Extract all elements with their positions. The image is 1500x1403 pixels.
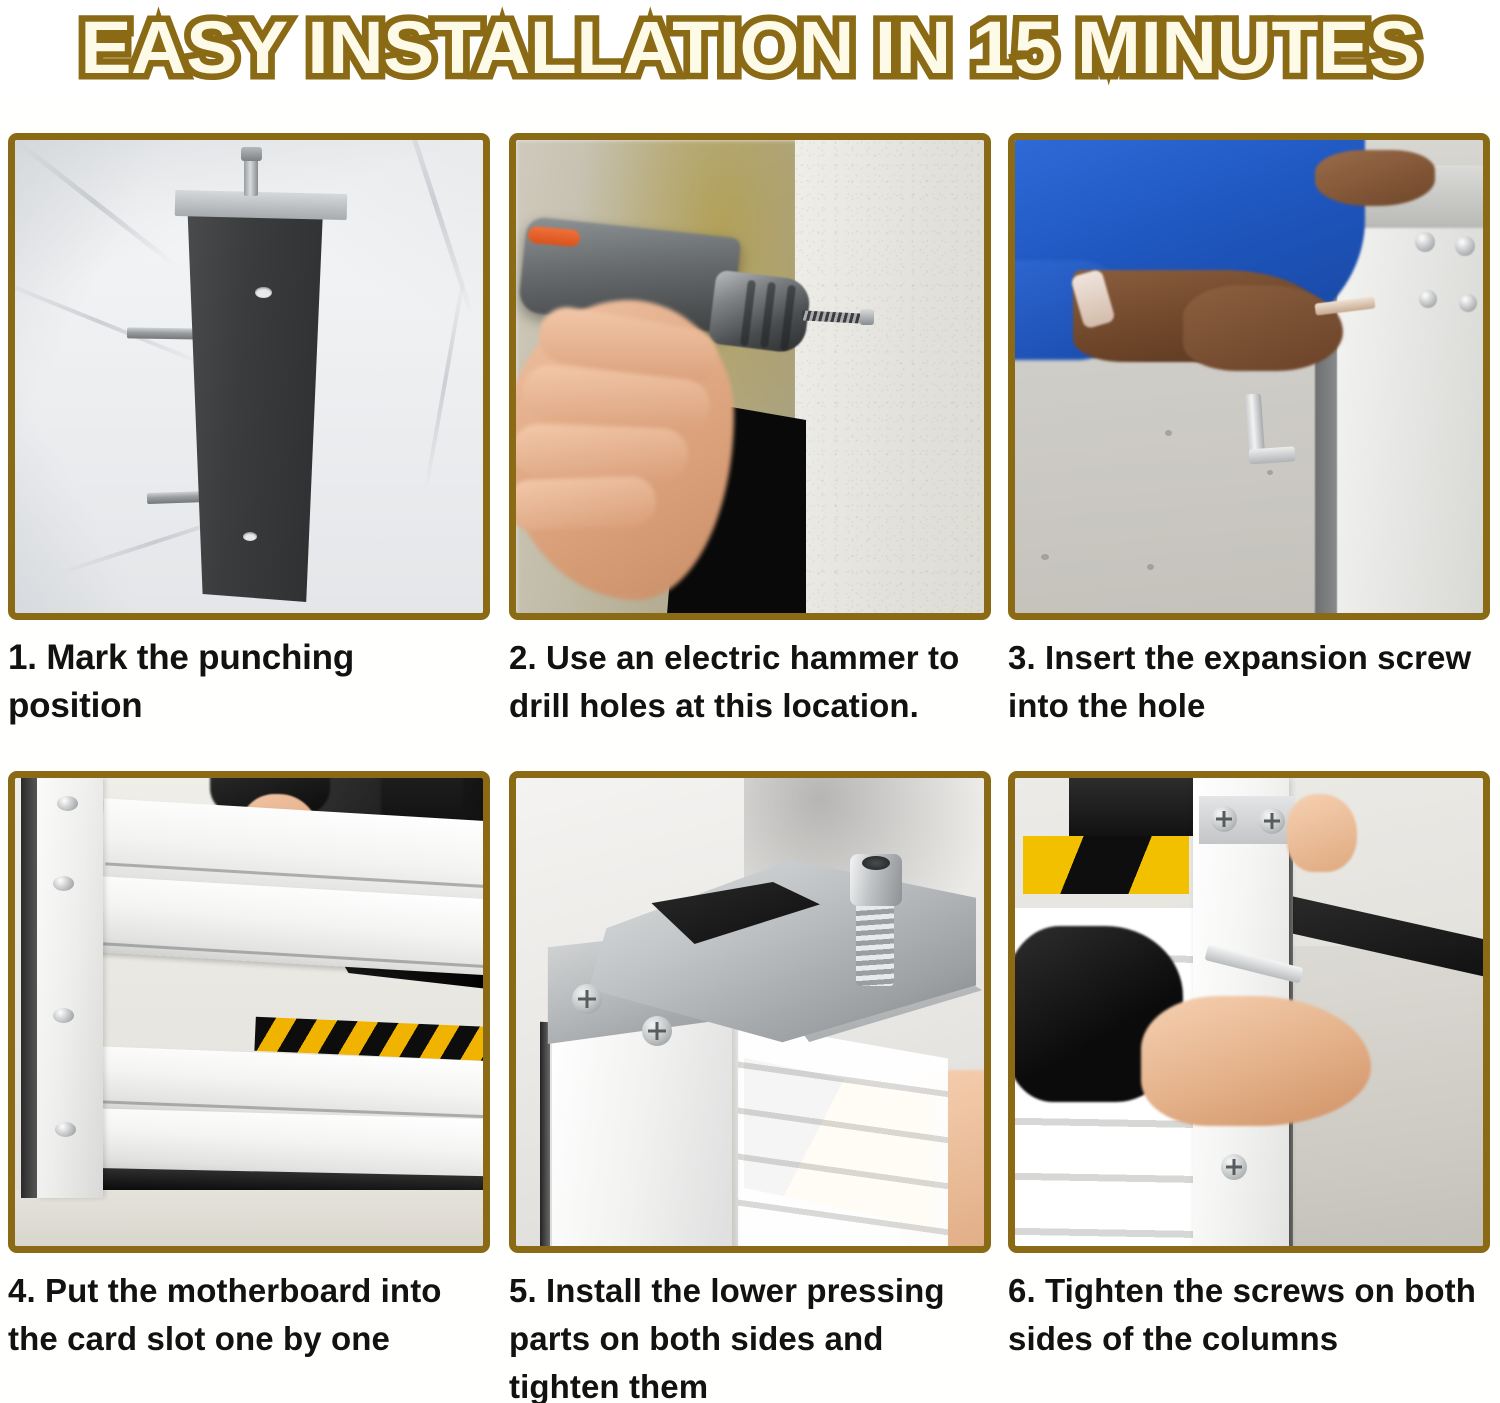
finger	[516, 423, 689, 481]
barrier-boards-stack	[738, 1021, 948, 1246]
white-column	[552, 1009, 732, 1246]
floor-surface	[15, 1190, 483, 1246]
installation-guide-page: EASY INSTALLATION IN 15 MINUTES	[0, 0, 1500, 1403]
step-card-2: 2. Use an electric hammer to drill holes…	[509, 133, 991, 730]
phillips-screw	[642, 1016, 672, 1046]
step-6-caption: 6. Tighten the screws on both sides of t…	[1008, 1267, 1490, 1363]
lower-pressing-parts-photo	[516, 778, 984, 1246]
step-card-6: 6. Tighten the screws on both sides of t…	[1008, 771, 1490, 1363]
column-bolt	[1455, 236, 1475, 256]
drill-bit-tip	[860, 309, 874, 325]
post-screw	[57, 796, 78, 811]
step-4-photo-frame	[8, 771, 490, 1253]
hazard-stripe	[1023, 836, 1189, 894]
electric-hammer-drilling-photo	[516, 140, 984, 613]
floor-speck	[1165, 430, 1172, 436]
column-post	[183, 202, 323, 602]
top-bolt-head	[241, 147, 262, 161]
floor-speck	[1147, 564, 1154, 570]
step-card-3: 3. Insert the expansion screw into the h…	[1008, 133, 1490, 730]
step-3-photo-frame	[1008, 133, 1490, 620]
column-bolt	[1419, 290, 1437, 308]
phillips-screw	[572, 984, 602, 1014]
finger	[516, 475, 657, 530]
punch-mark-hole-upper	[255, 287, 272, 298]
column-bolt	[1415, 232, 1435, 252]
column-screw-bottom	[1221, 1154, 1247, 1180]
steps-row-top: 1. Mark the punching position	[8, 133, 1492, 753]
steps-grid: 1. Mark the punching position	[8, 133, 1492, 1398]
step-4-caption: 4. Put the motherboard into the card slo…	[8, 1267, 490, 1363]
post-top-plate	[175, 190, 348, 220]
column-post-marking-photo	[15, 140, 483, 613]
punch-mark-hole-lower	[243, 532, 257, 541]
worker-hand	[1183, 285, 1343, 371]
motherboard-card-slot-photo	[15, 778, 483, 1246]
floor-speck	[1267, 470, 1273, 475]
step-3-caption: 3. Insert the expansion screw into the h…	[1008, 634, 1490, 730]
expansion-screw-insert-photo	[1015, 140, 1483, 613]
dark-background-region	[1069, 778, 1199, 836]
step-card-4: 4. Put the motherboard into the card slo…	[8, 771, 490, 1363]
step-5-caption: 5. Install the lower pressing parts on b…	[509, 1267, 991, 1403]
white-wall-surface	[795, 140, 984, 613]
column-screw-top-left	[1211, 806, 1237, 832]
thumbscrew-thread	[856, 896, 894, 986]
page-title: EASY INSTALLATION IN 15 MINUTES	[80, 11, 1419, 85]
post-screw	[53, 1008, 74, 1023]
header-banner: EASY INSTALLATION IN 15 MINUTES	[0, 0, 1500, 96]
steps-row-bottom: 4. Put the motherboard into the card slo…	[8, 771, 1492, 1398]
column-screw-top-right	[1259, 808, 1285, 834]
worker-hand-upper	[1287, 794, 1357, 872]
step-2-photo-frame	[509, 133, 991, 620]
step-card-5: 5. Install the lower pressing parts on b…	[509, 771, 991, 1403]
post-shadow-edge	[21, 778, 38, 1198]
tighten-column-screws-photo	[1015, 778, 1483, 1246]
column-shadow-edge	[540, 1022, 550, 1246]
step-1-caption: 1. Mark the punching position	[8, 634, 490, 730]
post-screw	[53, 876, 74, 891]
step-5-photo-frame	[509, 771, 991, 1253]
thumbscrew-socket	[862, 856, 890, 870]
floor-speck	[1041, 554, 1049, 560]
post-screw	[55, 1122, 76, 1137]
step-1-photo-frame	[8, 133, 490, 620]
step-2-caption: 2. Use an electric hammer to drill holes…	[509, 634, 991, 730]
worker-hand-upper	[1315, 150, 1435, 206]
step-6-photo-frame	[1008, 771, 1490, 1253]
column-bolt	[1459, 294, 1477, 312]
step-card-1: 1. Mark the punching position	[8, 133, 490, 730]
